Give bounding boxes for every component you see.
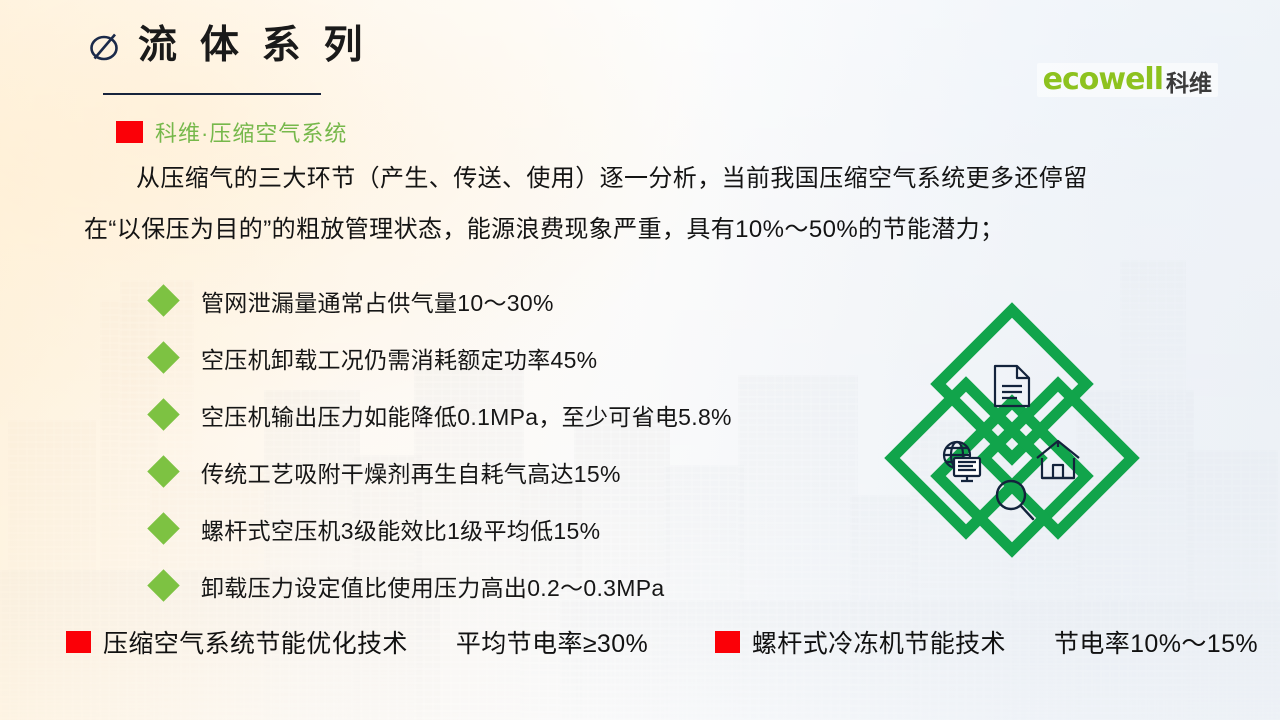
list-item-label: 管网泄漏量通常占供气量10～30% <box>201 284 554 318</box>
list-item-label: 空压机输出压力如能降低0.1MPa，至少可省电5.8% <box>201 398 732 432</box>
diamond-bullet-icon <box>147 569 180 602</box>
bullet-list: 管网泄漏量通常占供气量10～30% 空压机卸载工况仍需消耗额定功率45% 空压机… <box>152 272 732 614</box>
title-underline <box>103 93 321 95</box>
clover-graphic <box>880 298 1144 562</box>
diamond-bullet-icon <box>147 512 180 545</box>
brand-logo-text: ecowell <box>1043 65 1163 95</box>
footer-item-1-label: 压缩空气系统节能优化技术 <box>103 624 408 660</box>
page-title-text: 流 体 系 列 <box>138 26 369 65</box>
list-item: 传统工艺吸附干燥剂再生自耗气高达15% <box>152 443 732 500</box>
footer-item-2-value: 节电率10%～15% <box>1054 624 1258 660</box>
diamond-bullet-icon <box>147 455 180 488</box>
diamond-bullet-icon <box>147 284 180 317</box>
footer-highlights: 压缩空气系统节能优化技术 平均节电率≥30% 螺杆式冷冻机节能技术 节电率10%… <box>66 624 1258 660</box>
circle-slash-icon <box>88 29 122 63</box>
section-subtitle: 科维·压缩空气系统 <box>116 116 347 148</box>
footer-item-1: 压缩空气系统节能优化技术 平均节电率≥30% <box>66 624 648 660</box>
red-square-bullet-icon <box>715 631 740 653</box>
list-item: 管网泄漏量通常占供气量10～30% <box>152 272 732 329</box>
list-item-label: 传统工艺吸附干燥剂再生自耗气高达15% <box>201 455 621 489</box>
list-item-label: 卸载压力设定值比使用压力高出0.2～0.3MPa <box>201 569 664 603</box>
red-square-bullet-icon <box>66 631 91 653</box>
list-item: 螺杆式空压机3级能效比1级平均低15% <box>152 500 732 557</box>
list-item: 卸载压力设定值比使用压力高出0.2～0.3MPa <box>152 557 732 614</box>
footer-item-2: 螺杆式冷冻机节能技术 节电率10%～15% <box>715 624 1258 660</box>
list-item: 空压机卸载工况仍需消耗额定功率45% <box>152 329 732 386</box>
intro-paragraph-line2: 在“以保压为目的”的粗放管理状态，能源浪费现象严重，具有10%～50%的节能潜力… <box>84 213 1214 246</box>
brand-logo-cn: 科维 <box>1166 71 1212 95</box>
diamond-bullet-icon <box>147 398 180 431</box>
footer-item-2-label: 螺杆式冷冻机节能技术 <box>752 624 1006 660</box>
section-subtitle-text: 科维·压缩空气系统 <box>155 116 347 148</box>
slide: 流 体 系 列 ecowell 科维 科维·压缩空气系统 从压缩气的三大环节（产… <box>0 0 1280 720</box>
list-item-label: 螺杆式空压机3级能效比1级平均低15% <box>201 512 600 546</box>
list-item: 空压机输出压力如能降低0.1MPa，至少可省电5.8% <box>152 386 732 443</box>
page-title: 流 体 系 列 <box>88 26 369 65</box>
diamond-bullet-icon <box>147 341 180 374</box>
intro-paragraph: 从压缩气的三大环节（产生、传送、使用）逐一分析，当前我国压缩空气系统更多还停留 … <box>84 162 1214 264</box>
brand-logo: ecowell 科维 <box>1037 63 1218 97</box>
intro-paragraph-line1: 从压缩气的三大环节（产生、传送、使用）逐一分析，当前我国压缩空气系统更多还停留 <box>84 162 1214 195</box>
clover-svg <box>880 298 1144 562</box>
globe-monitor-icon <box>944 442 980 481</box>
red-square-bullet-icon <box>116 121 143 143</box>
footer-item-1-value: 平均节电率≥30% <box>456 624 648 660</box>
list-item-label: 空压机卸载工况仍需消耗额定功率45% <box>201 341 597 375</box>
